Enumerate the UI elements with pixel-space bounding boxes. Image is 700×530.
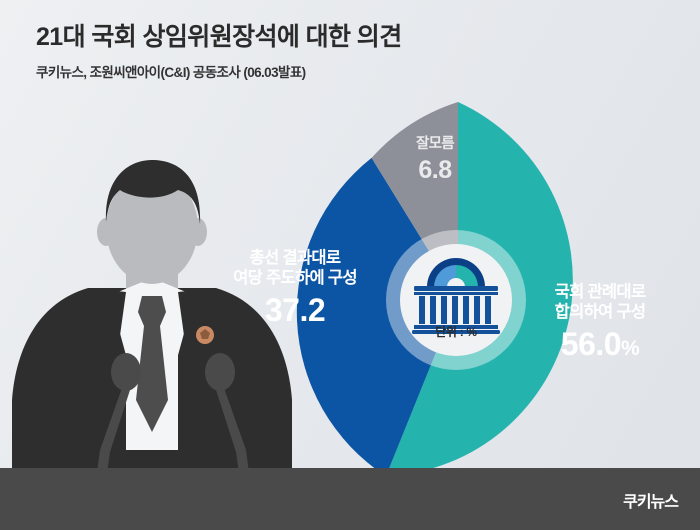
- infographic-root: 21대 국회 상임위원장석에 대한 의견 쿠키뉴스, 조원씨앤아이(C&I) 공…: [0, 0, 700, 530]
- lapel-pin-icon: [196, 326, 214, 344]
- ear-right: [189, 218, 207, 246]
- page-title: 21대 국회 상임위원장석에 대한 의견: [36, 22, 656, 52]
- center-badge: 단위 : %: [386, 230, 526, 370]
- kukinews-logo: 쿠키뉴스: [623, 488, 678, 512]
- page-subtitle: 쿠키뉴스, 조원씨앤아이(C&I) 공동조사 (06.03발표): [36, 61, 656, 81]
- footer-bar: 쿠키뉴스: [0, 468, 700, 530]
- center-badge-svg: [386, 230, 526, 370]
- ear-left: [97, 218, 115, 246]
- header: 21대 국회 상임위원장석에 대한 의견 쿠키뉴스, 조원씨앤아이(C&I) 공…: [36, 22, 656, 81]
- unit-label: 단위 : %: [386, 323, 526, 340]
